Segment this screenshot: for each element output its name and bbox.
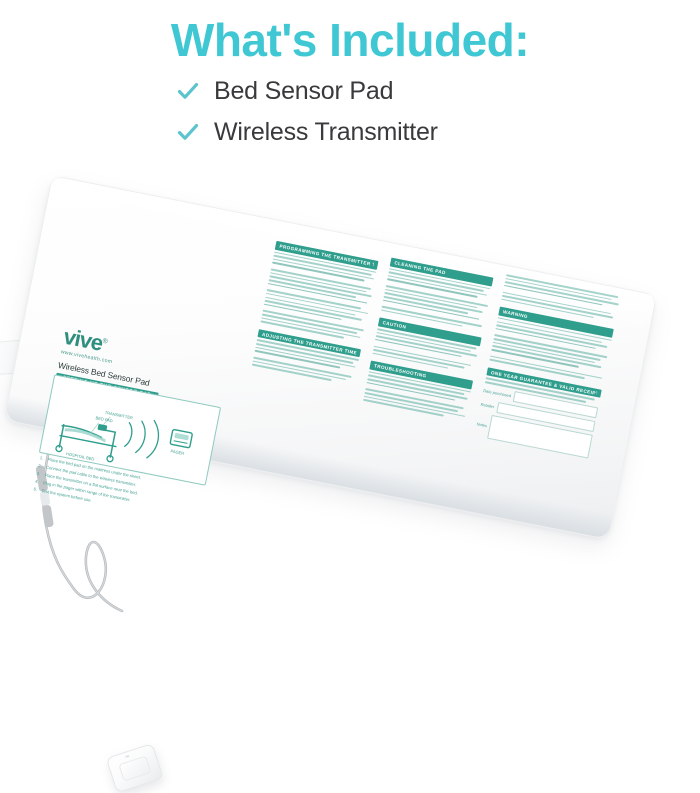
svg-text:PAGER: PAGER (170, 448, 185, 456)
product-photo: vive® www.vivehealth.com Wireless Bed Se… (0, 165, 700, 700)
cleaning-section: CLEANING THE PAD (381, 258, 494, 332)
printed-instruction-label: vive® www.vivehealth.com Wireless Bed Se… (43, 197, 623, 517)
svg-text:BED PAD: BED PAD (95, 415, 113, 423)
whats-included-header: What's Included: Bed Sensor Pad Wireless… (0, 0, 700, 175)
list-item: Bed Sensor Pad (176, 76, 438, 106)
instruction-column-2: CLEANING THE PAD (362, 258, 494, 428)
registered-mark: ® (102, 338, 107, 346)
check-icon (176, 120, 200, 144)
list-item: Wireless Transmitter (176, 117, 438, 147)
field-label: Retailer (480, 401, 495, 409)
programming-section: PROGRAMMING THE TRANSMITTER TO A WIRELES… (260, 241, 378, 343)
transmitter-body (106, 743, 164, 793)
field-label: Notes (476, 421, 487, 428)
instruction-column-1: PROGRAMMING THE TRANSMITTER TO A WIRELES… (250, 241, 378, 392)
included-items-list: Bed Sensor Pad Wireless Transmitter (176, 76, 438, 147)
wireless-transmitter (106, 744, 162, 792)
field-label: Date purchased (483, 388, 512, 398)
warranty-section: ONE YEAR GUARANTEE & VALID RECEIPT Date … (474, 367, 601, 458)
check-icon (176, 79, 200, 103)
pad-surface: vive® www.vivehealth.com Wireless Bed Se… (3, 175, 657, 540)
instruction-column-3: WARNING (473, 272, 621, 465)
transmitter-button[interactable] (118, 756, 151, 782)
sensor-pad: vive® www.vivehealth.com Wireless Bed Se… (0, 175, 660, 590)
list-item-label: Bed Sensor Pad (214, 77, 393, 106)
list-item-label: Wireless Transmitter (214, 118, 438, 147)
transmitter-led-icon (125, 755, 130, 759)
page-title: What's Included: (0, 16, 700, 64)
